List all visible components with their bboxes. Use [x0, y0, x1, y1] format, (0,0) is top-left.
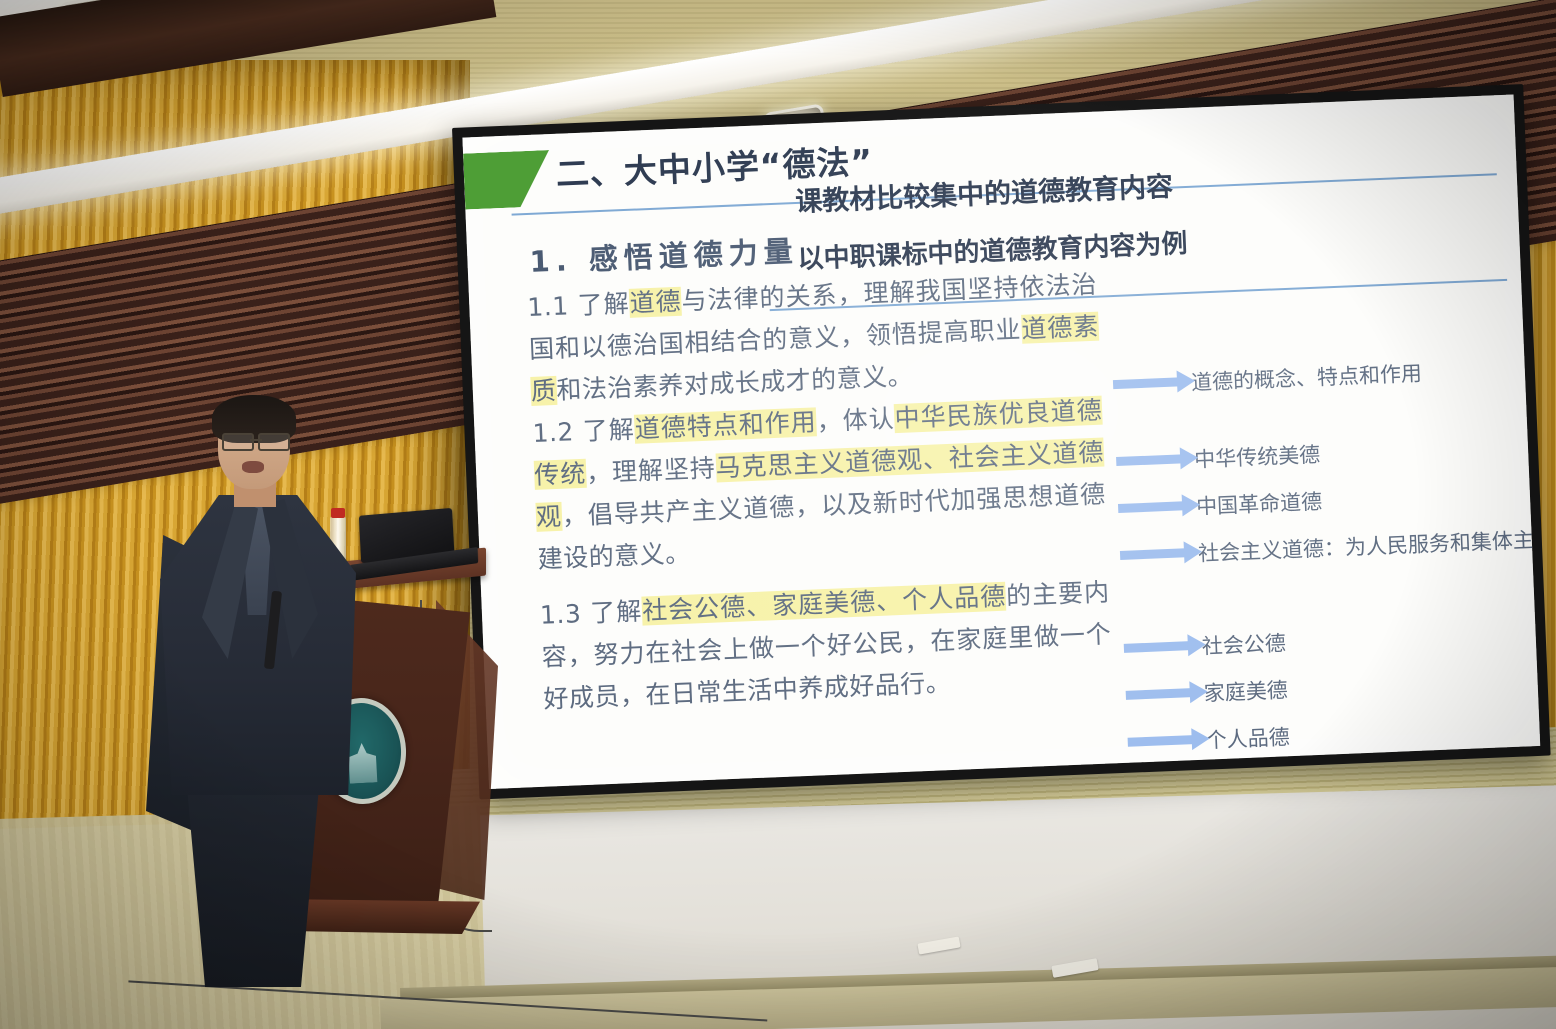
right-arrow-icon [1116, 454, 1182, 466]
body-text-run: 1.2 了解 [532, 415, 635, 448]
body-text-run: 1.1 了解 [527, 289, 630, 322]
presenter-mouth [242, 461, 264, 473]
arrow-label: 中国革命道德 [1195, 485, 1322, 520]
arrow-label: 社会公德 [1201, 627, 1286, 660]
presentation-slide: 二、大中小学“德法” 课教材比较集中的道德教育内容 以中职课标中的道德教育内容为… [462, 94, 1540, 789]
right-arrow-icon [1113, 377, 1179, 389]
arrow-label: 个人品德 [1205, 721, 1290, 754]
arrow-label: 社会主义道德：为人民服务和集体主义 [1197, 523, 1540, 568]
paragraph-1-3: 1.3 了解社会公德、家庭美德、个人品德的主要内容，努力在社会上做一个好公民，在… [539, 571, 1114, 720]
lecture-hall-photo: 二、大中小学“德法” 课教材比较集中的道德教育内容 以中职课标中的道德教育内容为… [0, 0, 1556, 1029]
presenter [150, 395, 380, 975]
highlighted-term: 社会公德、家庭美德、个人品德 [642, 582, 1007, 626]
right-arrow-icon [1120, 548, 1186, 560]
arrow-label: 道德的概念、特点和作用 [1190, 357, 1422, 396]
highlighted-term: 道德 [629, 287, 682, 318]
paragraph-1-1: 1.1 了解道德与法律的关系，理解我国坚持依法治国和以德治国相结合的意义，领悟提… [527, 264, 1102, 413]
slide-section-heading: 1. 感悟道德力量 [529, 228, 800, 281]
body-text-run: 1.3 了解 [539, 597, 642, 630]
body-text-run: ，体认 [816, 404, 895, 436]
arrow-label: 家庭美德 [1203, 674, 1288, 707]
body-text-run: ，理解坚持 [586, 453, 717, 487]
right-arrow-icon [1118, 501, 1184, 513]
green-accent-shape [463, 150, 551, 209]
highlighted-term: 道德特点和作用 [634, 407, 817, 443]
slide-body-text: 1.1 了解道德与法律的关系，理解我国坚持依法治国和以德治国相结合的意义，领悟提… [527, 264, 1114, 721]
projection-screen: 二、大中小学“德法” 课教材比较集中的道德教育内容 以中职课标中的道德教育内容为… [452, 84, 1551, 799]
body-text-run: 和法治素养对成长成才的意义。 [556, 361, 914, 405]
slide-arrow-list: 道德的概念、特点和作用 中华传统美德 中国革命道德 社会主义道德：为人民服务和集… [1112, 344, 1540, 766]
presenter-legs [178, 787, 328, 987]
arrow-label: 中华传统美德 [1194, 438, 1321, 473]
right-arrow-icon [1124, 641, 1190, 653]
screen-frame: 二、大中小学“德法” 课教材比较集中的道德教育内容 以中职课标中的道德教育内容为… [452, 84, 1551, 799]
right-arrow-icon [1128, 735, 1194, 747]
glasses-icon [222, 433, 290, 447]
right-arrow-icon [1126, 688, 1192, 700]
body-text-run: ，倡导共产主义道德，以及新时代加强思想道德建设的意义。 [537, 480, 1106, 574]
paragraph-1-2: 1.2 了解道德特点和作用，体认中华民族优良道德传统，理解坚持马克思主义道德观、… [532, 390, 1108, 581]
